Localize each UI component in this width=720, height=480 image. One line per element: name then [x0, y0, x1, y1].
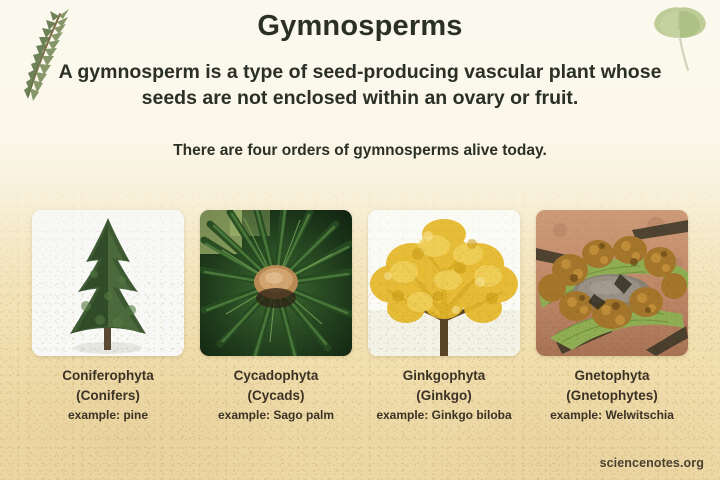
caption-gnetophyta: Gnetophyta (Gnetophytes) example: Welwit… [524, 366, 700, 424]
subheading-text: There are four orders of gymnosperms ali… [40, 142, 680, 160]
order-example: example: Sago palm [188, 406, 364, 424]
order-example: example: Ginkgo biloba [356, 406, 532, 424]
definition-text: A gymnosperm is a type of seed-producing… [40, 60, 680, 112]
infographic-poster: Gymnosperms A gymnosperm is a type of se… [0, 0, 720, 480]
order-image-card-ginkgophyta [368, 210, 520, 356]
welwitschia-photo [536, 210, 688, 356]
order-name: Ginkgophyta [356, 366, 532, 386]
order-image-card-gnetophyta [536, 210, 688, 356]
order-image-card-cycadophyta [200, 210, 352, 356]
caption-cycadophyta: Cycadophyta (Cycads) example: Sago palm [188, 366, 364, 424]
order-name: Gnetophyta [524, 366, 700, 386]
order-name: Coniferophyta [20, 366, 196, 386]
order-example: example: pine [20, 406, 196, 424]
ginkgo-tree-photo [368, 210, 520, 356]
conifer-tree-photo [32, 210, 184, 356]
order-common-name: (Gnetophytes) [524, 386, 700, 406]
order-example: example: Welwitschia [524, 406, 700, 424]
order-common-name: (Cycads) [188, 386, 364, 406]
order-common-name: (Conifers) [20, 386, 196, 406]
order-common-name: (Ginkgo) [356, 386, 532, 406]
caption-coniferophyta: Coniferophyta (Conifers) example: pine [20, 366, 196, 424]
source-watermark: sciencenotes.org [600, 456, 704, 470]
order-name: Cycadophyta [188, 366, 364, 386]
sago-palm-photo [200, 210, 352, 356]
caption-ginkgophyta: Ginkgophyta (Ginkgo) example: Ginkgo bil… [356, 366, 532, 424]
page-title: Gymnosperms [0, 10, 720, 43]
order-image-card-coniferophyta [32, 210, 184, 356]
